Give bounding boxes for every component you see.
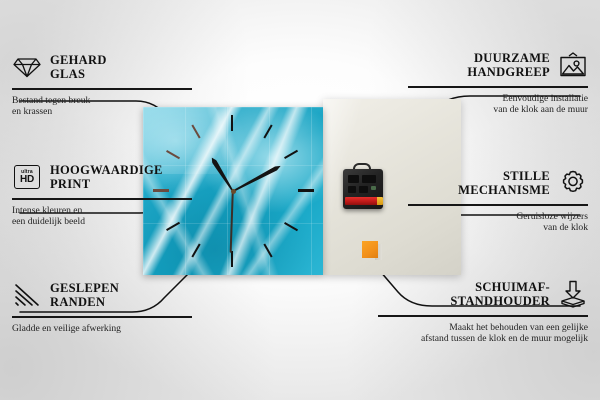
feature-title: HOOGWAARDIGE PRINT	[50, 163, 163, 192]
feature-geslepen-randen: GESLEPEN RANDEN Gladde en veilige afwerk…	[12, 278, 192, 334]
feature-title: SCHUIMAF- STANDHOUDER	[450, 280, 550, 309]
feature-description: Gladde en veilige afwerking	[12, 323, 192, 335]
clock-center-cap	[231, 189, 236, 194]
clock-tick	[231, 251, 233, 267]
feature-divider	[408, 86, 588, 88]
feature-header: ultra HD HOOGWAARDIGE PRINT	[12, 160, 192, 194]
feature-divider	[408, 204, 588, 206]
feature-title: DUURZAME HANDGREEP	[467, 51, 550, 80]
feature-description: Maakt het behouden van een gelijke afsta…	[378, 322, 588, 345]
feature-header: GEHARD GLAS	[12, 50, 192, 84]
clock-tick	[298, 189, 314, 192]
clock-battery	[345, 197, 380, 205]
ultra-hd-icon: ultra HD	[12, 162, 42, 192]
feature-duurzame-handgreep: DUURZAME HANDGREEP Eenvoudige installati…	[408, 48, 588, 116]
picture-frame-icon	[558, 50, 588, 80]
press-down-icon	[558, 279, 588, 309]
feature-title: GEHARD GLAS	[50, 53, 107, 82]
feature-divider	[378, 315, 588, 317]
feature-header: STILLE MECHANISME	[408, 166, 588, 200]
feature-description: Geruisloze wijzers van de klok	[408, 211, 588, 234]
feature-header: SCHUIMAF- STANDHOUDER	[378, 277, 588, 311]
feature-stille-mechanisme: STILLE MECHANISME Geruisloze wijzers van…	[408, 166, 588, 234]
feature-hoogwaardige-print: ultra HD HOOGWAARDIGE PRINT Intense kleu…	[12, 160, 192, 228]
feature-gehard-glas: GEHARD GLAS Bestand tegen breuk en krass…	[12, 50, 192, 118]
product-infographic: GEHARD GLAS Bestand tegen breuk en krass…	[0, 0, 600, 400]
diamond-icon	[12, 52, 42, 82]
movement-detail	[371, 186, 376, 190]
feature-title: GESLEPEN RANDEN	[50, 281, 119, 310]
feature-description: Bestand tegen breuk en krassen	[12, 95, 192, 118]
feature-description: Eenvoudige installatie van de klok aan d…	[408, 93, 588, 116]
diagonal-lines-icon	[12, 280, 42, 310]
feature-description: Intense kleuren en een duidelijk beeld	[12, 205, 192, 228]
movement-detail	[348, 175, 359, 183]
feature-divider	[12, 198, 192, 200]
clock-tick	[231, 115, 233, 131]
feature-schuimaf-standhouder: SCHUIMAF- STANDHOUDER Maakt het behouden…	[378, 277, 588, 345]
feature-header: DUURZAME HANDGREEP	[408, 48, 588, 82]
battery-terminal	[377, 197, 383, 205]
feature-header: GESLEPEN RANDEN	[12, 278, 192, 312]
movement-detail	[359, 186, 368, 193]
gear-icon	[558, 168, 588, 198]
feature-divider	[12, 316, 192, 318]
movement-detail	[348, 186, 356, 193]
foam-spacer	[362, 241, 378, 258]
movement-detail	[362, 175, 376, 183]
feature-title: STILLE MECHANISME	[458, 169, 550, 198]
feature-divider	[12, 88, 192, 90]
